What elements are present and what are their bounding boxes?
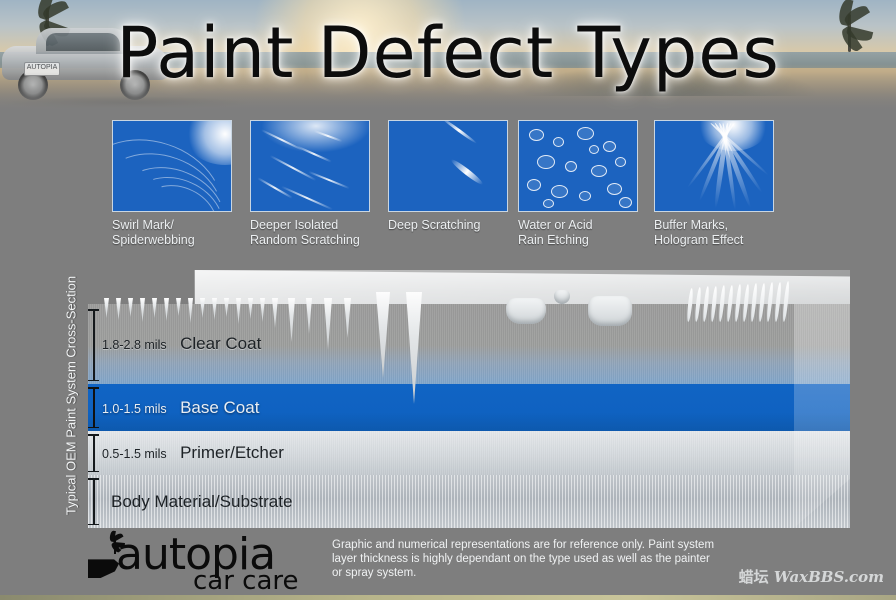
bracket-primer-etcher xyxy=(88,431,99,475)
bracket-body-substrate xyxy=(88,475,99,528)
bracket-clear-coat xyxy=(88,306,99,384)
defect-card-deep-scratching[interactable]: Deep Scratching xyxy=(388,120,508,233)
primer-name: Primer/Etcher xyxy=(180,443,284,462)
watermark-cn-text: 蜡坛 xyxy=(739,568,769,586)
defect-card-swirl-mark[interactable]: Swirl Mark/ Spiderwebbing xyxy=(112,120,232,247)
swirl-mark-image xyxy=(112,120,232,212)
primer-thickness: 0.5-1.5 mils xyxy=(102,447,167,461)
defect-label-deeper-isolated: Deeper Isolated Random Scratching xyxy=(250,218,370,247)
defect-card-deeper-isolated[interactable]: Deeper Isolated Random Scratching xyxy=(250,120,370,247)
bottom-edge-strip xyxy=(0,595,896,600)
deeper-isolated-image xyxy=(250,120,370,212)
disclaimer-text: Graphic and numerical representations ar… xyxy=(332,538,722,580)
page-title: Paint Defect Types xyxy=(0,12,896,94)
logo-tagline: car care xyxy=(193,568,299,594)
watermark: 蜡坛 WaxBBS.com xyxy=(739,566,884,587)
axis-label-text: Typical OEM Paint System Cross-Section xyxy=(64,274,79,518)
infographic-canvas: AUTOPIA Paint Defect Types Swirl Mark/ S… xyxy=(0,0,896,600)
defect-label-water-acid-etch: Water or Acid Rain Etching xyxy=(518,218,638,247)
base-coat-name: Base Coat xyxy=(180,398,259,417)
cross-section-axis-label: Typical OEM Paint System Cross-Section xyxy=(56,270,78,528)
layer-body-substrate: Body Material/Substrate xyxy=(88,475,850,528)
paint-cross-section-diagram: 1.8-2.8 mils Clear Coat 1.0-1.5 mils Bas… xyxy=(88,270,850,528)
substrate-name: Body Material/Substrate xyxy=(111,492,292,511)
watermark-site-text: WaxBBS.com xyxy=(774,568,884,586)
defect-label-deep-scratching: Deep Scratching xyxy=(388,218,508,233)
water-acid-etch-image xyxy=(518,120,638,212)
defect-label-buffer-marks: Buffer Marks, Hologram Effect xyxy=(654,218,774,247)
paint-layer-stack: 1.8-2.8 mils Clear Coat 1.0-1.5 mils Bas… xyxy=(88,304,850,528)
layer-primer-etcher: 0.5-1.5 mils Primer/Etcher xyxy=(88,431,850,475)
defect-thumbnail-row: Swirl Mark/ Spiderwebbing Deeper Isolate… xyxy=(0,120,896,260)
autopia-logo[interactable]: autopia car care xyxy=(88,534,328,592)
defect-label-swirl-mark: Swirl Mark/ Spiderwebbing xyxy=(112,218,232,247)
defect-card-water-acid-etch[interactable]: Water or Acid Rain Etching xyxy=(518,120,638,247)
base-coat-thickness: 1.0-1.5 mils xyxy=(102,402,167,416)
layer-clear-coat: 1.8-2.8 mils Clear Coat xyxy=(88,304,850,384)
deep-scratching-image xyxy=(388,120,508,212)
layer-base-coat: 1.0-1.5 mils Base Coat xyxy=(88,384,850,431)
clear-coat-name: Clear Coat xyxy=(180,334,261,353)
clear-coat-thickness: 1.8-2.8 mils xyxy=(102,338,167,352)
bracket-base-coat xyxy=(88,384,99,431)
buffer-marks-image xyxy=(654,120,774,212)
defect-card-buffer-marks[interactable]: Buffer Marks, Hologram Effect xyxy=(654,120,774,247)
